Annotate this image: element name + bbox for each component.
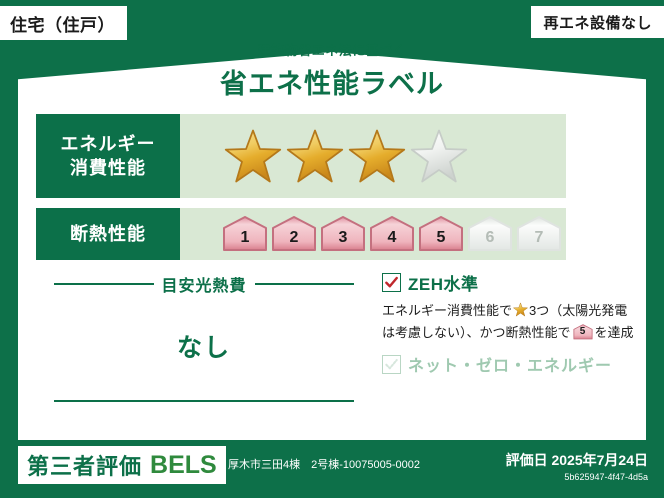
inline-star-icon [513,302,528,323]
bels-logo-box: 第三者評価 BELS [18,446,226,484]
nze-line: ネット・ゼロ・エネルギー [382,352,637,376]
zeh-block: ZEH水準 エネルギー消費性能で3つ（太陽光発電は考慮しない）、かつ断熱性能で5… [382,270,637,376]
insulation-level-7: 7 [516,216,562,252]
zeh-description: エネルギー消費性能で3つ（太陽光発電は考慮しない）、かつ断熱性能で5を達成 [382,301,637,343]
insulation-level-number: 6 [467,216,513,252]
energy-performance-label: エネルギー 消費性能 [36,114,180,198]
building-type-text: 住宅（住戸） [10,11,115,36]
renewable-equipment-badge: 再エネ設備なし [531,6,664,38]
building-type-badge: 住宅（住戸） [0,6,127,40]
nze-label: ネット・ゼロ・エネルギー [408,352,612,376]
inline-insulation-level-number: 5 [573,324,593,340]
star-filled-icon [286,127,344,185]
utility-cost-bottom-rule [54,400,354,402]
zeh-checkbox-checked-icon [382,273,401,292]
insulation-level-number: 3 [320,216,366,252]
insulation-performance-label: 断熱性能 [36,208,180,260]
utility-cost-title: 目安光熱費 [162,272,247,296]
energy-performance-value [180,114,566,198]
zeh-title: ZEH水準 [408,270,479,295]
insulation-level-2: 2 [271,216,317,252]
star-filled-icon [224,127,282,185]
energy-performance-label: 住宅（住戸） 再エネ設備なし 建築物省エネ法に基づく 省エネ性能ラベル エネルギ… [0,0,664,498]
rule-left [54,283,154,285]
evaluation-info: 評価日 2025年7月24日 5b625947-4f47-4d5a [506,450,648,482]
bels-logo-text: BELS [150,451,217,480]
star-empty-icon [410,127,468,185]
insulation-performance-row: 断熱性能 1234567 [36,208,566,260]
inline-insulation-level-icon: 5 [573,324,593,340]
insulation-level-number: 5 [418,216,464,252]
energy-label-line2: 消費性能 [70,156,146,180]
nze-checkbox-unchecked-icon [382,355,401,374]
third-party-evaluation-text: 第三者評価 [27,449,142,481]
zeh-title-line: ZEH水準 [382,270,637,295]
renewable-equipment-text: 再エネ設備なし [543,12,652,33]
insulation-level-5: 5 [418,216,464,252]
star-filled-icon [348,127,406,185]
evaluation-id: 5b625947-4f47-4d5a [506,472,648,482]
insulation-level-number: 2 [271,216,317,252]
insulation-level-6: 6 [467,216,513,252]
property-identifier: 厚木市三田4棟 2号棟-10075005-0002 [228,456,420,472]
utility-cost-value: なし [54,328,354,364]
utility-cost-block: 目安光熱費 なし [54,272,354,364]
insulation-level-1: 1 [222,216,268,252]
insulation-scale: 1234567 [180,216,562,252]
energy-label-line1: エネルギー [61,132,156,156]
utility-cost-header: 目安光熱費 [54,272,354,296]
insulation-level-number: 4 [369,216,415,252]
insulation-level-3: 3 [320,216,366,252]
star-rating [180,127,468,185]
insulation-level-number: 7 [516,216,562,252]
evaluation-date: 評価日 2025年7月24日 [506,450,648,470]
main-card: エネルギー 消費性能 断熱性能 1234567 目安光熱費 なし [18,104,646,440]
energy-performance-row: エネルギー 消費性能 [36,114,566,198]
insulation-performance-value: 1234567 [180,208,566,260]
rule-right [255,283,355,285]
insulation-level-4: 4 [369,216,415,252]
insulation-level-number: 1 [222,216,268,252]
insulation-label-text: 断熱性能 [70,222,146,246]
